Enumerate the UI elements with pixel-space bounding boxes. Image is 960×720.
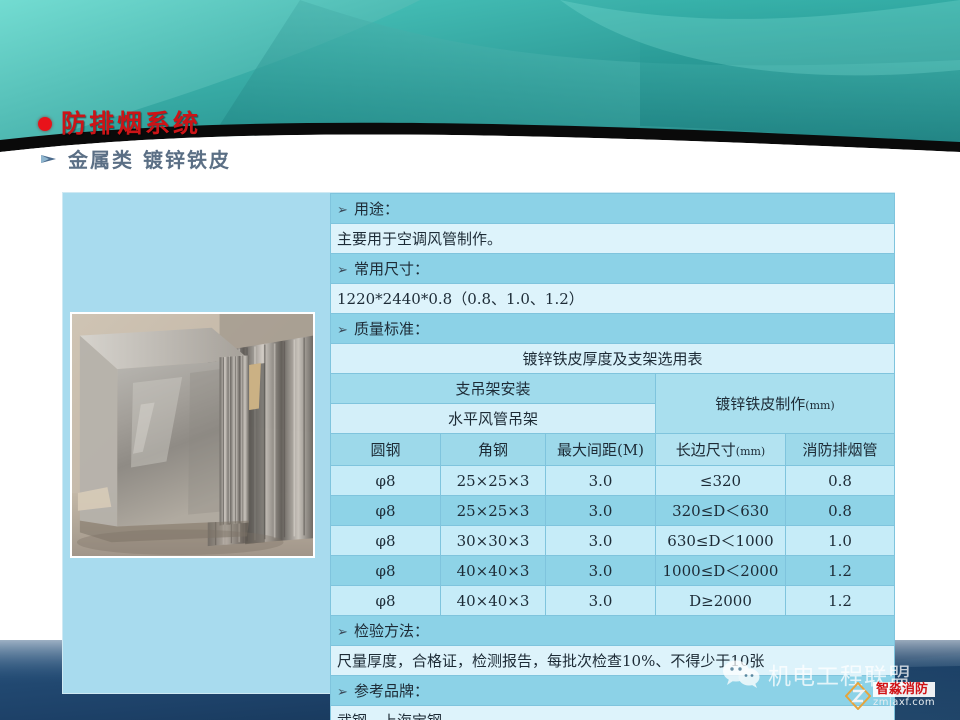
table-row: 镀锌铁皮厚度及支架选用表 — [331, 344, 895, 374]
specification-table: ➢用途： 主要用于空调风管制作。 ➢常用尺寸： 1220*2440*0.8（0.… — [330, 193, 895, 720]
cell-thickness: 1.2 — [786, 586, 895, 616]
cell-angle-steel: 40×40×3 — [441, 586, 546, 616]
slide-subtitle-row: 金属类 镀锌铁皮 — [40, 144, 231, 173]
cell-thickness: 0.8 — [786, 466, 895, 496]
cell-long-side-size: D≥2000 — [656, 586, 786, 616]
product-photo-frame — [70, 312, 315, 558]
table-row: φ8 40×40×3 3.0 1000≤D＜2000 1.2 — [331, 556, 895, 586]
page-subtitle: 金属类 镀锌铁皮 — [68, 144, 231, 173]
row-value-usage: 主要用于空调风管制作。 — [331, 224, 895, 254]
table-row: ➢质量标准： — [331, 314, 895, 344]
group-header-sheet-fabrication: 镀锌铁皮制作(mm) — [656, 374, 895, 434]
table-row: 尺量厚度，合格证，检测报告，每批次检查10%、不得少于10张 — [331, 646, 895, 676]
cell-round-steel: φ8 — [331, 586, 441, 616]
cell-angle-steel: 25×25×3 — [441, 496, 546, 526]
column-header-smoke-exhaust-duct: 消防排烟管 — [786, 434, 895, 466]
arrow-bullet-icon: ➢ — [337, 685, 350, 700]
arrow-marker-icon — [40, 152, 58, 166]
cell-thickness: 0.8 — [786, 496, 895, 526]
brand-watermark: 智淼消防 zmjaxf.com — [845, 682, 935, 710]
table-row: φ8 40×40×3 3.0 D≥2000 1.2 — [331, 586, 895, 616]
arrow-bullet-icon: ➢ — [337, 263, 350, 278]
cell-thickness: 1.2 — [786, 556, 895, 586]
table-row: ➢用途： — [331, 194, 895, 224]
galvanized-sheet-photo — [72, 314, 313, 556]
cell-max-spacing: 3.0 — [546, 466, 656, 496]
cell-angle-steel: 40×40×3 — [441, 556, 546, 586]
cell-round-steel: φ8 — [331, 466, 441, 496]
table-row: φ8 25×25×3 3.0 320≤D＜630 0.8 — [331, 496, 895, 526]
cell-max-spacing: 3.0 — [546, 526, 656, 556]
cell-round-steel: φ8 — [331, 556, 441, 586]
column-header-long-side-size: 长边尺寸(mm) — [656, 434, 786, 466]
arrow-bullet-icon: ➢ — [337, 203, 350, 218]
group-header-horizontal-duct-hanger: 水平风管吊架 — [331, 404, 656, 434]
slide-title-row: 防排烟系统 — [38, 104, 201, 140]
brand-watermark-url: zmjaxf.com — [873, 698, 935, 708]
page-title: 防排烟系统 — [61, 104, 201, 140]
cell-max-spacing: 3.0 — [546, 556, 656, 586]
cell-max-spacing: 3.0 — [546, 586, 656, 616]
table-row: 支吊架安装 镀锌铁皮制作(mm) — [331, 374, 895, 404]
row-value-inspection-method: 尺量厚度，合格证，检测报告，每批次检查10%、不得少于10张 — [331, 646, 895, 676]
cell-round-steel: φ8 — [331, 496, 441, 526]
cell-angle-steel: 30×30×3 — [441, 526, 546, 556]
row-label-usage: ➢用途： — [331, 194, 895, 224]
row-label-reference-brand: ➢参考品牌： — [331, 676, 895, 706]
arrow-bullet-icon: ➢ — [337, 625, 350, 640]
table-row: φ8 25×25×3 3.0 ≤320 0.8 — [331, 466, 895, 496]
cell-max-spacing: 3.0 — [546, 496, 656, 526]
spec-table-caption: 镀锌铁皮厚度及支架选用表 — [331, 344, 895, 374]
table-row: 1220*2440*0.8（0.8、1.0、1.2） — [331, 284, 895, 314]
brand-watermark-label: 智淼消防 — [873, 682, 935, 697]
column-header-angle-steel: 角钢 — [441, 434, 546, 466]
cell-long-side-size: 1000≤D＜2000 — [656, 556, 786, 586]
column-header-round-steel: 圆钢 — [331, 434, 441, 466]
table-row: ➢参考品牌： — [331, 676, 895, 706]
cell-long-side-size: ≤320 — [656, 466, 786, 496]
column-header-max-spacing: 最大间距(M) — [546, 434, 656, 466]
row-value-reference-brand: 武钢、上海宝钢 — [331, 706, 895, 720]
cell-round-steel: φ8 — [331, 526, 441, 556]
row-label-quality-standard: ➢质量标准： — [331, 314, 895, 344]
cell-long-side-size: 630≤D＜1000 — [656, 526, 786, 556]
table-header-row: 圆钢 角钢 最大间距(M) 长边尺寸(mm) 消防排烟管 — [331, 434, 895, 466]
row-label-common-size: ➢常用尺寸： — [331, 254, 895, 284]
cell-thickness: 1.0 — [786, 526, 895, 556]
row-value-common-size: 1220*2440*0.8（0.8、1.0、1.2） — [331, 284, 895, 314]
diamond-logo-icon — [845, 682, 871, 710]
table-row: ➢检验方法： — [331, 616, 895, 646]
table-row: φ8 30×30×3 3.0 630≤D＜1000 1.0 — [331, 526, 895, 556]
table-row: 主要用于空调风管制作。 — [331, 224, 895, 254]
table-row: ➢常用尺寸： — [331, 254, 895, 284]
row-label-inspection-method: ➢检验方法： — [331, 616, 895, 646]
cell-long-side-size: 320≤D＜630 — [656, 496, 786, 526]
red-bullet-icon — [38, 117, 52, 131]
group-header-bracket-install: 支吊架安装 — [331, 374, 656, 404]
cell-angle-steel: 25×25×3 — [441, 466, 546, 496]
arrow-bullet-icon: ➢ — [337, 323, 350, 338]
table-row: 武钢、上海宝钢 — [331, 706, 895, 720]
slide-canvas: 防排烟系统 金属类 镀锌铁皮 — [0, 0, 960, 720]
